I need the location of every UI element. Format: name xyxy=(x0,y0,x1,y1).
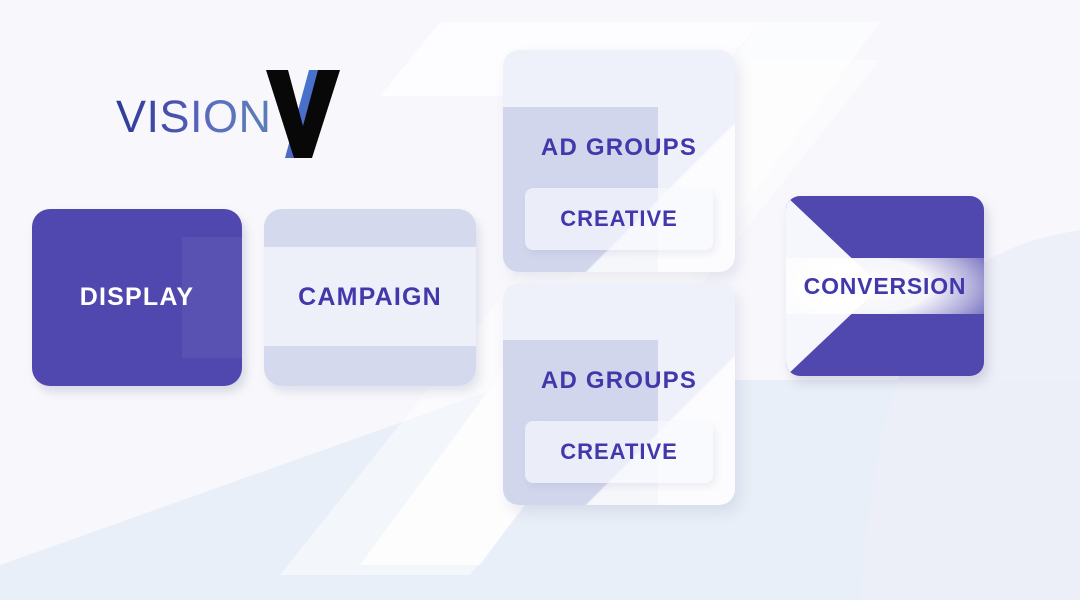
stage-label-conversion: CONVERSION xyxy=(786,196,984,376)
stage-label-ad-groups-1: AD GROUPS xyxy=(503,134,735,162)
stage-card-display[interactable]: DISPLAY xyxy=(32,209,242,386)
stage-card-creative-1[interactable]: CREATIVE xyxy=(525,188,713,250)
stage-label-campaign: CAMPAIGN xyxy=(298,283,442,312)
diagram-canvas: VISION DISPLAY CAMPAIGN AD GROUPS xyxy=(0,0,1080,600)
stage-label-ad-groups-2: AD GROUPS xyxy=(503,367,735,395)
stage-card-ad-groups-2[interactable]: AD GROUPS CREATIVE xyxy=(503,283,735,505)
vision-v-logo-icon xyxy=(262,68,344,160)
stage-card-campaign[interactable]: CAMPAIGN xyxy=(264,209,476,386)
vision-v-logo-svg xyxy=(262,68,344,160)
stage-card-ad-groups-1[interactable]: AD GROUPS CREATIVE xyxy=(503,50,735,272)
card-band-top xyxy=(264,209,476,247)
stage-label-creative-1: CREATIVE xyxy=(560,206,678,232)
stage-card-creative-2[interactable]: CREATIVE xyxy=(525,421,713,483)
card-band-bottom xyxy=(264,346,476,386)
stage-label-creative-2: CREATIVE xyxy=(560,439,678,465)
stage-label-display: DISPLAY xyxy=(80,283,194,312)
stage-card-conversion[interactable]: CONVERSION xyxy=(786,196,984,376)
brand-wordmark: VISION xyxy=(116,94,272,139)
